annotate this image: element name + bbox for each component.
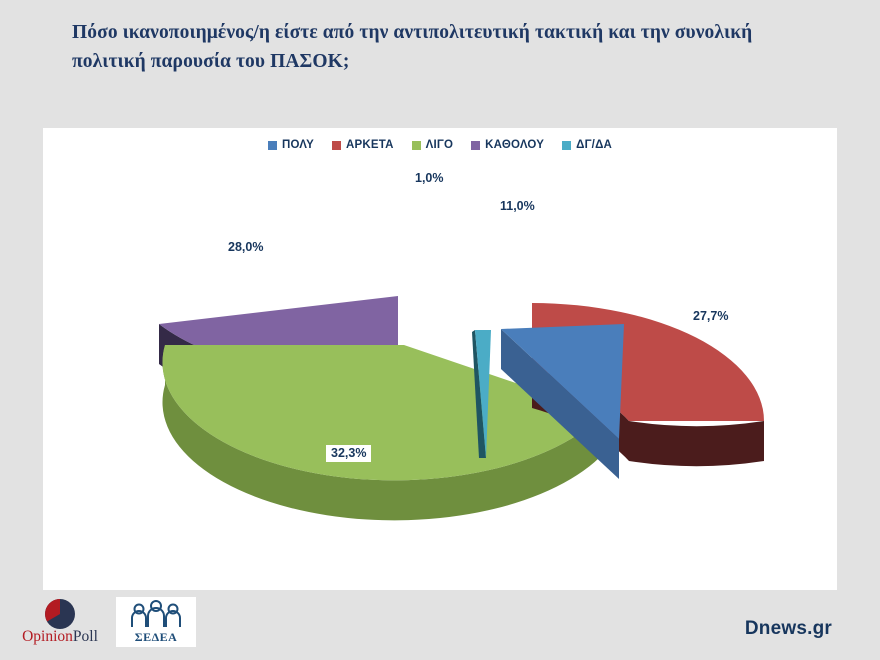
opinionpoll-word-poll: Poll bbox=[73, 628, 98, 645]
pie-label-dgda: 1,0% bbox=[415, 172, 444, 185]
chart-panel: ΠΟΛΥ ΑΡΚΕΤΑ ΛΙΓΟ ΚΑΘΟΛΟΥ ΔΓ/ΔΑ bbox=[43, 128, 837, 590]
page-title: Πόσο ικανοποιημένος/η είστε από την αντι… bbox=[72, 18, 812, 76]
sedea-logo[interactable]: ΣΕΔΕΑ bbox=[116, 597, 196, 647]
page-title-line-1: Πόσο ικανοποιημένος/η είστε από την αντι… bbox=[72, 18, 812, 47]
opinionpoll-wordmark: OpinionPoll bbox=[18, 628, 102, 646]
pie-svg bbox=[43, 128, 837, 590]
sedea-wordmark: ΣΕΔΕΑ bbox=[116, 630, 196, 645]
opinionpoll-pie-icon bbox=[44, 598, 76, 630]
opinionpoll-logo[interactable]: OpinionPoll bbox=[18, 597, 102, 647]
pie-label-arketa: 27,7% bbox=[688, 308, 733, 325]
pie-chart-3d bbox=[43, 128, 837, 590]
footer-logos: OpinionPoll ΣΕΔΕΑ bbox=[18, 597, 196, 647]
site-brand: Dnews.gr bbox=[745, 618, 832, 640]
pie-label-ligo: 32,3% bbox=[326, 445, 371, 462]
opinionpoll-word-opinion: Opinion bbox=[22, 628, 73, 645]
sedea-people-icon bbox=[128, 600, 184, 630]
pie-slice-arketa-side-outer bbox=[629, 421, 764, 466]
pie-label-poly: 11,0% bbox=[495, 198, 540, 215]
page-title-line-2: πολιτική παρουσία του ΠΑΣΟΚ; bbox=[72, 47, 812, 76]
pie-label-katholou: 28,0% bbox=[223, 239, 268, 256]
